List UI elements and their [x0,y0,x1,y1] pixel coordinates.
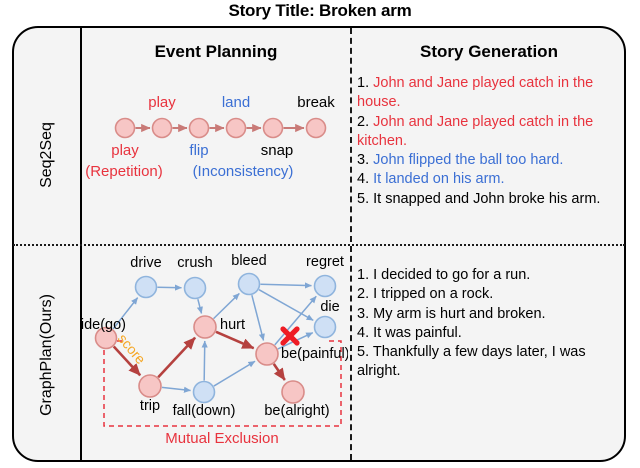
graph-node-label-trip: trip [140,398,160,414]
story-bottom-line: 3. My arm is hurt and broken. [357,305,625,324]
story-top-line: 4. It landed on his arm. [357,170,625,189]
seq2seq-annotation-1: (Inconsistency) [193,163,294,180]
story-bottom-line: 1. I decided to go for a run. [357,266,625,285]
story-top-line: 5. It snapped and John broke his arm. [357,190,625,209]
graph-node-n2[interactable] [153,119,172,138]
column-divider-dashed [350,28,352,460]
graphplan-event-graph: decide(go)drivecrushbleedregretdiehurtbe… [82,250,348,460]
graph-edge [274,364,285,380]
graph-node-n4[interactable] [227,119,246,138]
story-line-number: 3. [357,152,373,168]
story-line-number: 5. [357,344,373,360]
row-label-graphplan: GraphPlan(Ours) [38,275,58,435]
story-line-text: It snapped and John broke his arm. [373,191,600,207]
story-line-text: It was painful. [373,325,462,341]
graph-node-label-regret: regret [306,254,344,270]
graph-node-label-hurt: hurt [220,317,245,333]
graph-node-label-crush: crush [177,255,212,271]
graph-node-die[interactable] [315,317,336,338]
graph-edge [158,338,195,378]
row-divider-dotted [13,244,625,246]
column-header-story-generation: Story Generation [355,42,623,62]
graph-node-drive[interactable] [136,277,157,298]
story-generation-seq2seq: 1. John and Jane played catch in the hou… [357,74,625,209]
seq2seq-label-above-2: break [297,94,335,111]
graph-node-n5[interactable] [264,119,283,138]
story-line-text: My arm is hurt and broken. [373,306,545,322]
graph-node-fall_down[interactable] [194,382,215,403]
story-line-text: Thankfully a few days later, I was alrig… [357,344,586,379]
story-bottom-line: 4. It was painful. [357,324,625,343]
story-line-text: John and Jane played catch in the house. [357,75,593,110]
story-generation-graphplan: 1. I decided to go for a run.2. I trippe… [357,266,625,382]
graph-node-label-fall_down: fall(down) [173,403,236,419]
story-line-text: John and Jane played catch in the kitche… [357,114,593,149]
graph-node-label-die: die [320,299,339,315]
seq2seq-label-below-1: flip [189,142,208,159]
graph-node-label-decide_go: decide(go) [82,317,126,333]
story-line-number: 5. [357,191,373,207]
graph-node-be_painful[interactable] [256,343,278,365]
story-line-number: 2. [357,286,373,302]
mutual-exclusion-caption: Mutual Exclusion [165,430,278,447]
graph-node-n1[interactable] [116,119,135,138]
seq2seq-annotation-0: (Repetition) [85,163,163,180]
story-line-number: 1. [357,75,373,91]
seq2seq-event-chain: playlandbreakplayflipsnap(Repetition)(In… [82,60,348,242]
graph-node-crush[interactable] [185,278,206,299]
seq2seq-label-below-2: snap [261,142,294,159]
row-label-seq2seq: Seq2Seq [38,95,58,215]
seq2seq-label-below-0: play [111,142,139,159]
story-top-line: 1. John and Jane played catch in the hou… [357,74,625,113]
story-line-number: 2. [357,114,373,130]
graph-edge [162,387,191,390]
graph-node-n3[interactable] [190,119,209,138]
graph-edge [275,296,316,345]
graph-edge [198,299,202,313]
story-line-text: I tripped on a rock. [373,286,493,302]
graph-node-be_alright[interactable] [282,381,304,403]
story-bottom-line: 2. I tripped on a rock. [357,285,625,304]
graph-edge [204,341,205,381]
graph-edge [260,284,311,285]
story-line-number: 4. [357,171,373,187]
graph-node-label-bleed: bleed [231,253,266,269]
graph-node-regret[interactable] [315,276,336,297]
graph-edge [214,293,240,318]
story-line-number: 4. [357,325,373,341]
story-line-text: I decided to go for a run. [373,267,530,283]
story-top-line: 2. John and Jane played catch in the kit… [357,113,625,152]
seq2seq-label-above-1: land [222,94,250,111]
graph-node-hurt[interactable] [194,316,216,338]
graph-node-label-be_painful: be(painful) [281,346,348,362]
column-header-event-planning: Event Planning [85,42,347,62]
story-line-text: It landed on his arm. [373,171,504,187]
graph-node-bleed[interactable] [239,274,260,295]
graph-node-trip[interactable] [139,375,161,397]
graph-node-label-drive: drive [130,255,161,271]
page-title: Story Title: Broken arm [0,1,640,21]
graph-edge [252,295,264,340]
story-bottom-line: 5. Thankfully a few days later, I was al… [357,343,625,382]
story-line-number: 1. [357,267,373,283]
seq2seq-label-above-0: play [148,94,176,111]
story-line-text: John flipped the ball too hard. [373,152,563,168]
figure-root: Story Title: Broken arm Event Planning S… [0,0,640,468]
story-line-number: 3. [357,306,373,322]
graph-edge [259,290,313,321]
graph-node-label-be_alright: be(alright) [264,403,329,419]
graph-edge [214,361,255,386]
graph-node-n6[interactable] [307,119,326,138]
score-edge-label: score [115,331,149,368]
graph-edge [216,332,254,348]
story-top-line: 3. John flipped the ball too hard. [357,151,625,170]
conflict-x-icon [283,329,297,343]
